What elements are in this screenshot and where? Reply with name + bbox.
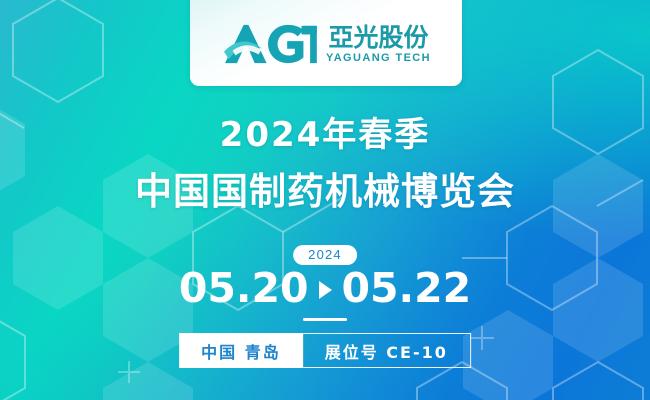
headline-block: 2024年春季 中国国制药机械博览会 xyxy=(0,116,650,214)
agt-logo-mark-icon xyxy=(221,22,317,66)
exhibition-banner: 亞光股份 YAGUANG TECH 2024年春季 中国国制药机械博览会 202… xyxy=(0,0,650,400)
date-end: 05.22 xyxy=(342,268,472,309)
year-badge: 2024 xyxy=(293,245,357,265)
headline-line-2: 中国国制药机械博览会 xyxy=(0,171,650,214)
divider-rule xyxy=(303,318,347,321)
info-bar: 中国 青岛 展位号 CE-10 xyxy=(179,333,471,368)
date-range: 05.20 05.22 xyxy=(0,268,650,309)
brand-name-cn: 亞光股份 xyxy=(328,25,428,50)
triangle-right-icon xyxy=(319,281,332,299)
date-start: 05.20 xyxy=(179,268,309,309)
booth-label: 展位号 CE-10 xyxy=(303,333,471,368)
brand-logo-card: 亞光股份 YAGUANG TECH xyxy=(190,0,462,86)
location-label: 中国 青岛 xyxy=(179,333,303,368)
brand-name-en: YAGUANG TECH xyxy=(326,53,431,64)
headline-line-1: 2024年春季 xyxy=(0,116,650,155)
